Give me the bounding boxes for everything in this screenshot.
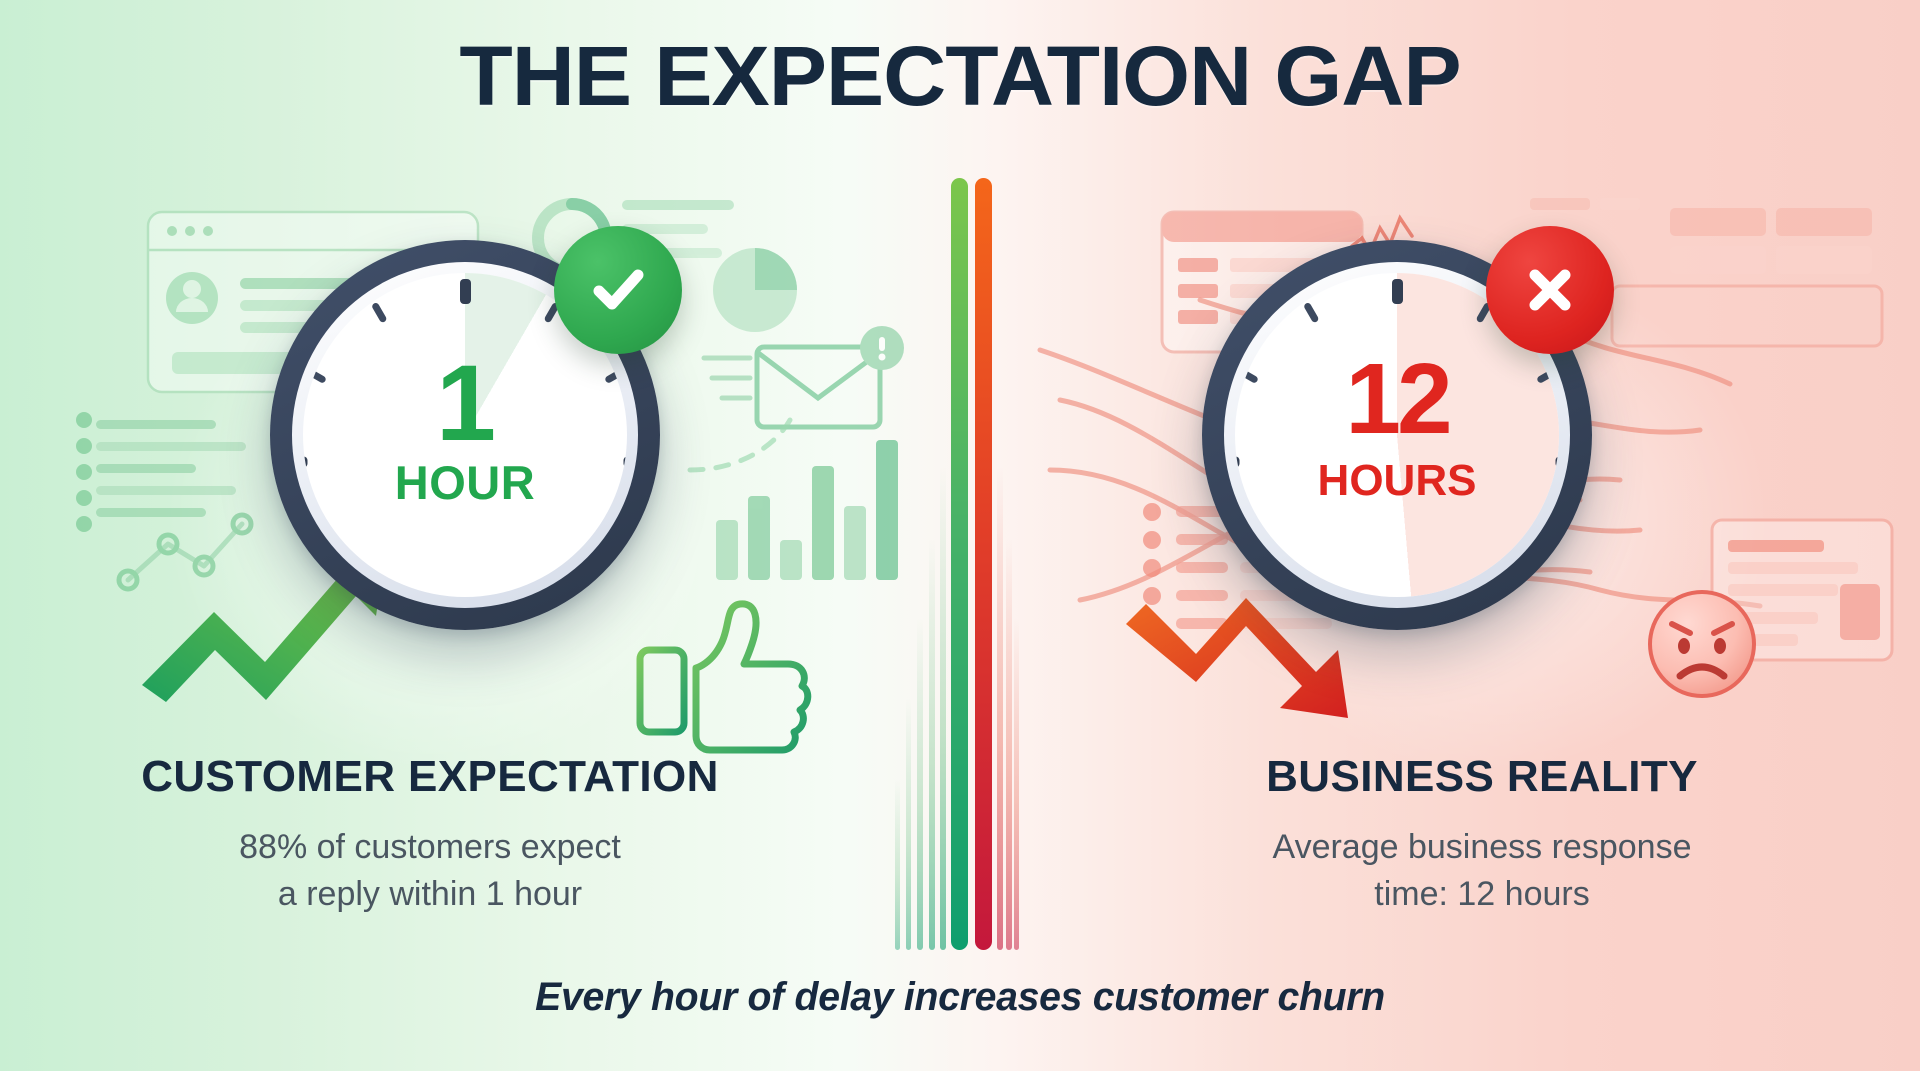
right-caption-subtitle: Average business response time: 12 hours	[1112, 824, 1852, 918]
reality-bar	[975, 178, 992, 950]
left-caption-block: CUSTOMER EXPECTATION 88% of customers ex…	[60, 752, 800, 918]
right-caption-line-2: time: 12 hours	[1112, 871, 1852, 918]
thumbs-up-icon	[640, 604, 808, 750]
left-caption-line-1: 88% of customers expect	[60, 824, 800, 871]
pie-chart-icon	[713, 248, 797, 332]
left-caption-title: CUSTOMER EXPECTATION	[60, 752, 800, 802]
customer-expectation-clock: 1 HOUR	[270, 240, 660, 630]
left-bullet-dots-icon	[76, 412, 92, 532]
left-caption-subtitle: 88% of customers expect a reply within 1…	[60, 824, 800, 918]
clock-value-right: 12	[1235, 349, 1559, 449]
center-divider	[893, 178, 1023, 950]
success-badge	[554, 226, 682, 354]
left-caption-line-2: a reply within 1 hour	[60, 871, 800, 918]
cross-icon	[1515, 255, 1585, 325]
left-text-lines-icon	[96, 420, 246, 517]
sad-face-icon	[1642, 584, 1762, 704]
check-icon	[583, 255, 653, 325]
infographic-canvas: 1 HOUR	[0, 0, 1920, 1071]
right-caption-title: BUSINESS REALITY	[1112, 752, 1852, 802]
clock-value-left: 1	[303, 349, 627, 457]
bar-chart-icon	[716, 440, 898, 580]
envelope-icon	[704, 326, 904, 427]
dashed-curve-icon	[690, 420, 790, 470]
clock-unit-right: HOURS	[1235, 459, 1559, 503]
business-reality-clock: 12 HOURS	[1202, 240, 1592, 630]
clock-unit-left: HOUR	[303, 459, 627, 506]
line-chart-icon	[119, 515, 251, 589]
expectation-bar	[951, 178, 968, 950]
right-caption-block: BUSINESS REALITY Average business respon…	[1112, 752, 1852, 918]
page-title: THE EXPECTATION GAP	[0, 28, 1920, 125]
failure-badge	[1486, 226, 1614, 354]
footer-tagline: Every hour of delay increases customer c…	[19, 975, 1901, 1020]
right-caption-line-1: Average business response	[1112, 824, 1852, 871]
